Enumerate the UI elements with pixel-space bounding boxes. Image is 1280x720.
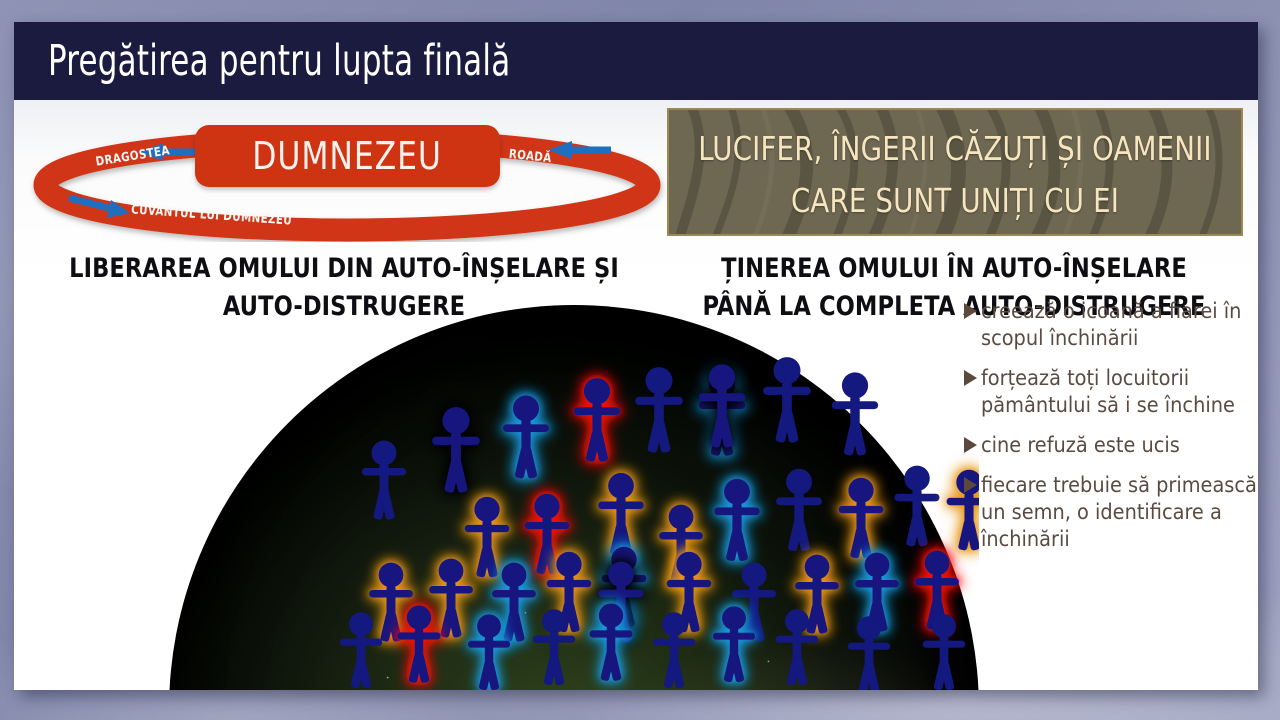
person-figure	[429, 559, 473, 639]
bullet-text: creează o icoană a fiarei în scopul înch…	[981, 298, 1258, 352]
person-figure	[574, 378, 621, 463]
list-item: cine refuză este ucis	[964, 432, 1258, 459]
lucifer-box: LUCIFER, ÎNGERII CĂZUȚI ȘI OAMENII CARE …	[667, 108, 1243, 236]
bullet-text: fiecare trebuie să primească un semn, o …	[981, 472, 1258, 553]
dumnezeu-label: DUMNEZEU	[253, 134, 443, 178]
slide-title-banner: Pregătirea pentru lupta finală	[14, 22, 1258, 100]
triangle-right-icon	[964, 303, 977, 319]
dumnezeu-box: DUMNEZEU	[195, 125, 500, 187]
person-figure	[397, 605, 440, 683]
person-figure	[832, 372, 878, 456]
slide-canvas: Pregătirea pentru lupta finală	[14, 22, 1258, 690]
person-figure	[635, 367, 683, 453]
person-figure	[776, 469, 822, 552]
slide-body: DUMNEZEU DRAGOSTEA ROADĂ CUVÂNTUL LUI DU…	[14, 100, 1258, 690]
list-item: fiecare trebuie să primească un semn, o …	[964, 472, 1258, 553]
triangle-right-icon	[964, 437, 977, 453]
person-figure	[468, 614, 510, 690]
person-figure	[432, 407, 480, 493]
triangle-right-icon	[964, 370, 977, 386]
person-figure	[714, 479, 760, 562]
bullet-list: creează o icoană a fiarei în scopul înch…	[964, 298, 1258, 566]
bullet-text: forțează toți locuitorii pământului să i…	[981, 365, 1258, 419]
person-figure	[503, 395, 549, 479]
person-figure	[598, 473, 644, 556]
person-figure	[369, 563, 413, 643]
triangle-right-icon	[964, 477, 977, 493]
bullet-text: cine refuză este ucis	[981, 432, 1180, 459]
person-figure	[763, 357, 811, 443]
page-title: Pregătirea pentru lupta finală	[48, 30, 510, 92]
list-item: creează o icoană a fiarei în scopul înch…	[964, 298, 1258, 352]
person-figure	[653, 612, 695, 689]
earth-crowd-illustration	[169, 305, 979, 690]
person-figure	[895, 466, 940, 547]
person-figure	[732, 563, 776, 643]
person-figure	[465, 497, 510, 578]
person-figure	[839, 478, 884, 559]
cycle-diagram: DUMNEZEU DRAGOSTEA ROADĂ CUVÂNTUL LUI DU…	[29, 112, 669, 242]
person-figure	[340, 612, 382, 689]
crowd-figures	[169, 305, 979, 690]
lucifer-box-text: LUCIFER, ÎNGERII CĂZUȚI ȘI OAMENII CARE …	[689, 123, 1221, 227]
list-item: forțează toți locuitorii pământului să i…	[964, 365, 1258, 419]
person-figure	[362, 441, 406, 521]
